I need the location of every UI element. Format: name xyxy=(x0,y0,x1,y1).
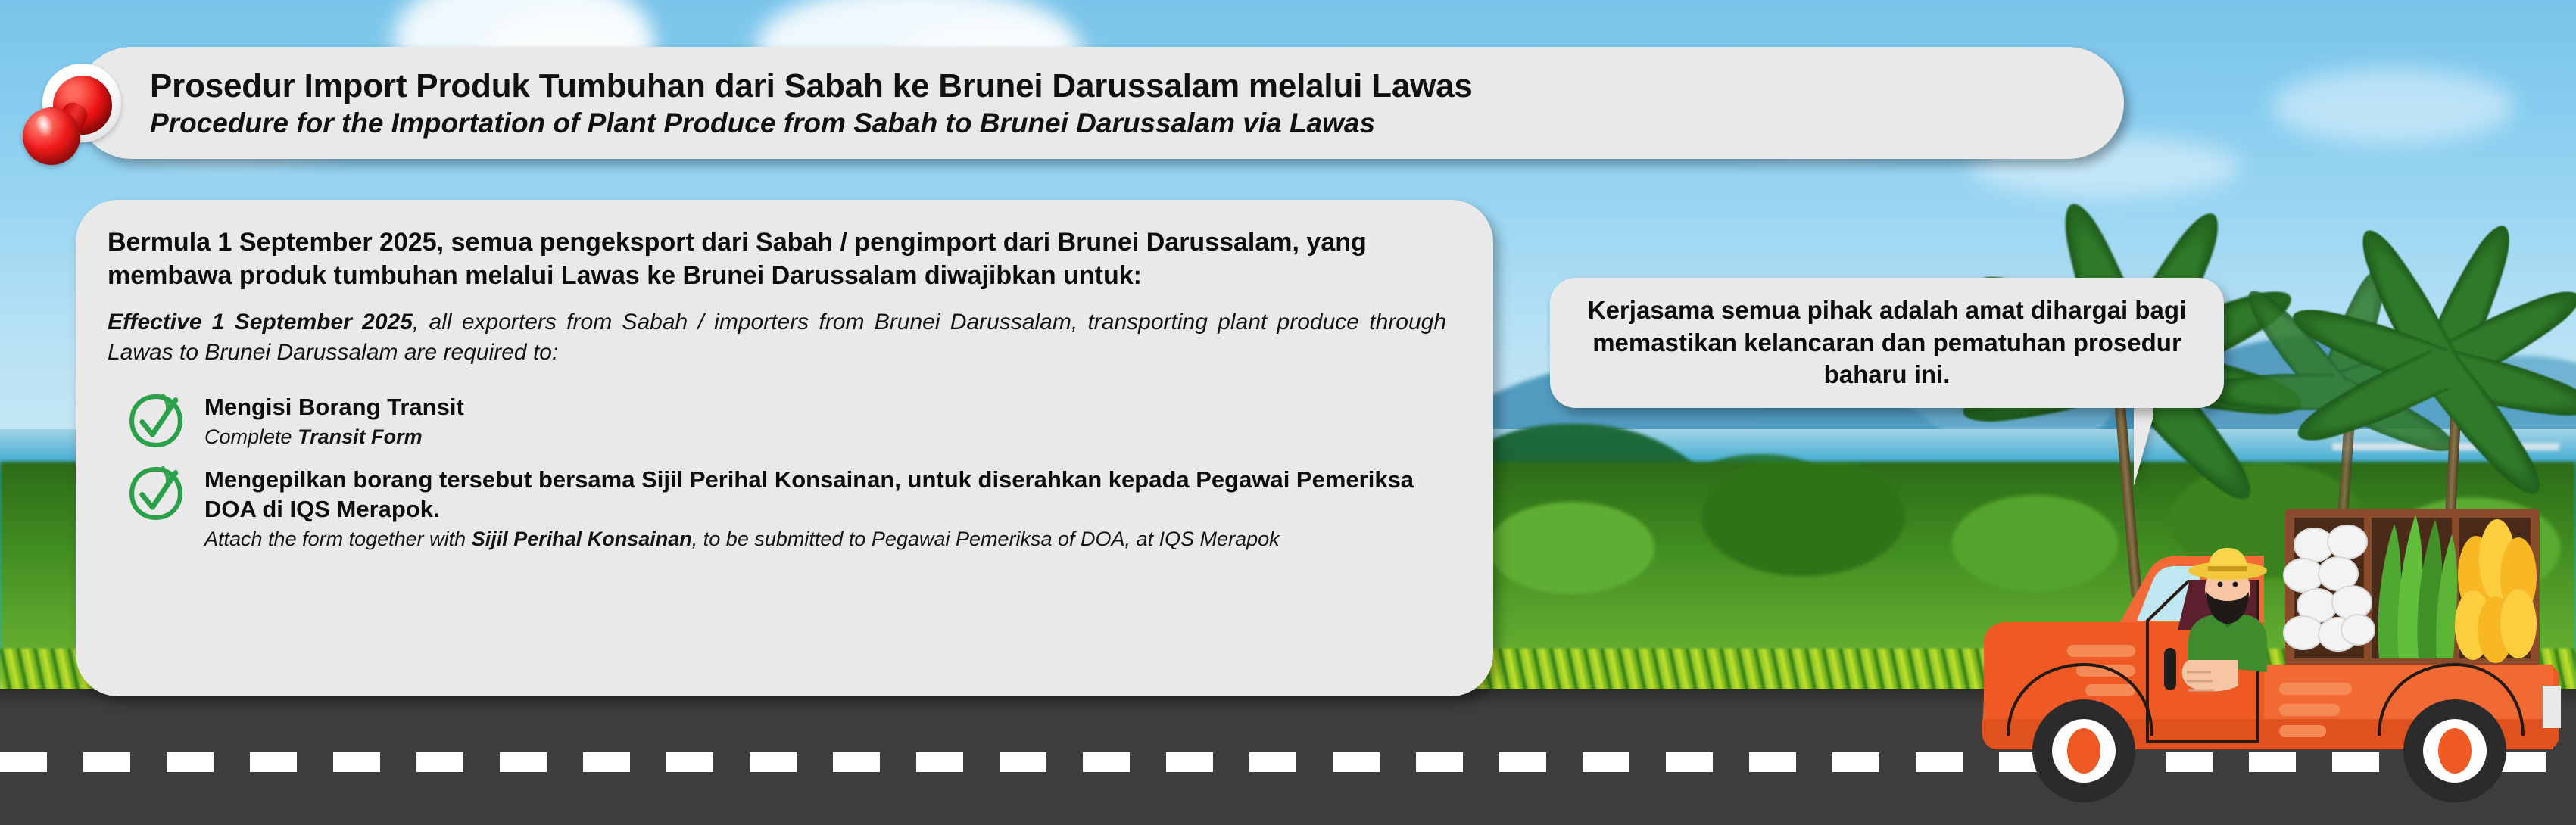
info-card: Bermula 1 September 2025, semua pengeksp… xyxy=(76,200,1493,696)
speech-bubble-text: Kerjasama semua pihak adalah amat diharg… xyxy=(1570,294,2204,392)
cloud xyxy=(2272,68,2514,144)
produce-crate xyxy=(2284,509,2540,668)
page-subtitle: Procedure for the Importation of Plant P… xyxy=(150,107,2124,139)
list-item-label-ms: Mengisi Borang Transit xyxy=(204,392,1446,422)
delivery-truck-icon xyxy=(1961,469,2576,825)
infographic-poster: Prosedur Import Produk Tumbuhan dari Sab… xyxy=(0,0,2576,825)
list-item-label-ms: Mengepilkan borang tersebut bersama Siji… xyxy=(204,465,1446,524)
lead-paragraph-en: Effective 1 September 2025, all exporter… xyxy=(108,307,1446,367)
item-en-bold: Transit Form xyxy=(298,425,423,448)
page-title: Prosedur Import Produk Tumbuhan dari Sab… xyxy=(150,67,2124,104)
lead-en-bold: Effective 1 September 2025 xyxy=(108,310,413,335)
list-item: Mengisi Borang Transit Complete Transit … xyxy=(108,391,1446,450)
item-en-pre: Attach the form together with xyxy=(204,528,472,550)
item-en-post: , to be submitted to Pegawai Pemeriksa o… xyxy=(692,528,1280,550)
list-item-label-en: Attach the form together with Sijil Peri… xyxy=(204,526,1446,552)
check-circle-icon xyxy=(127,392,185,450)
requirement-list: Mengisi Borang Transit Complete Transit … xyxy=(108,391,1446,552)
lead-paragraph-ms: Bermula 1 September 2025, semua pengeksp… xyxy=(108,226,1446,292)
check-circle-icon xyxy=(127,465,185,522)
speech-bubble: Kerjasama semua pihak adalah amat diharg… xyxy=(1550,278,2224,408)
title-card: Prosedur Import Produk Tumbuhan dari Sab… xyxy=(76,47,2124,159)
list-item: Mengepilkan borang tersebut bersama Siji… xyxy=(108,463,1446,552)
list-item-label-en: Complete Transit Form xyxy=(204,424,1446,450)
list-item-body: Mengepilkan borang tersebut bersama Siji… xyxy=(204,463,1446,552)
item-en-bold: Sijil Perihal Konsainan xyxy=(472,528,692,550)
item-en-pre: Complete xyxy=(204,425,298,448)
pushpin-icon xyxy=(17,59,130,173)
list-item-body: Mengisi Borang Transit Complete Transit … xyxy=(204,391,1446,450)
